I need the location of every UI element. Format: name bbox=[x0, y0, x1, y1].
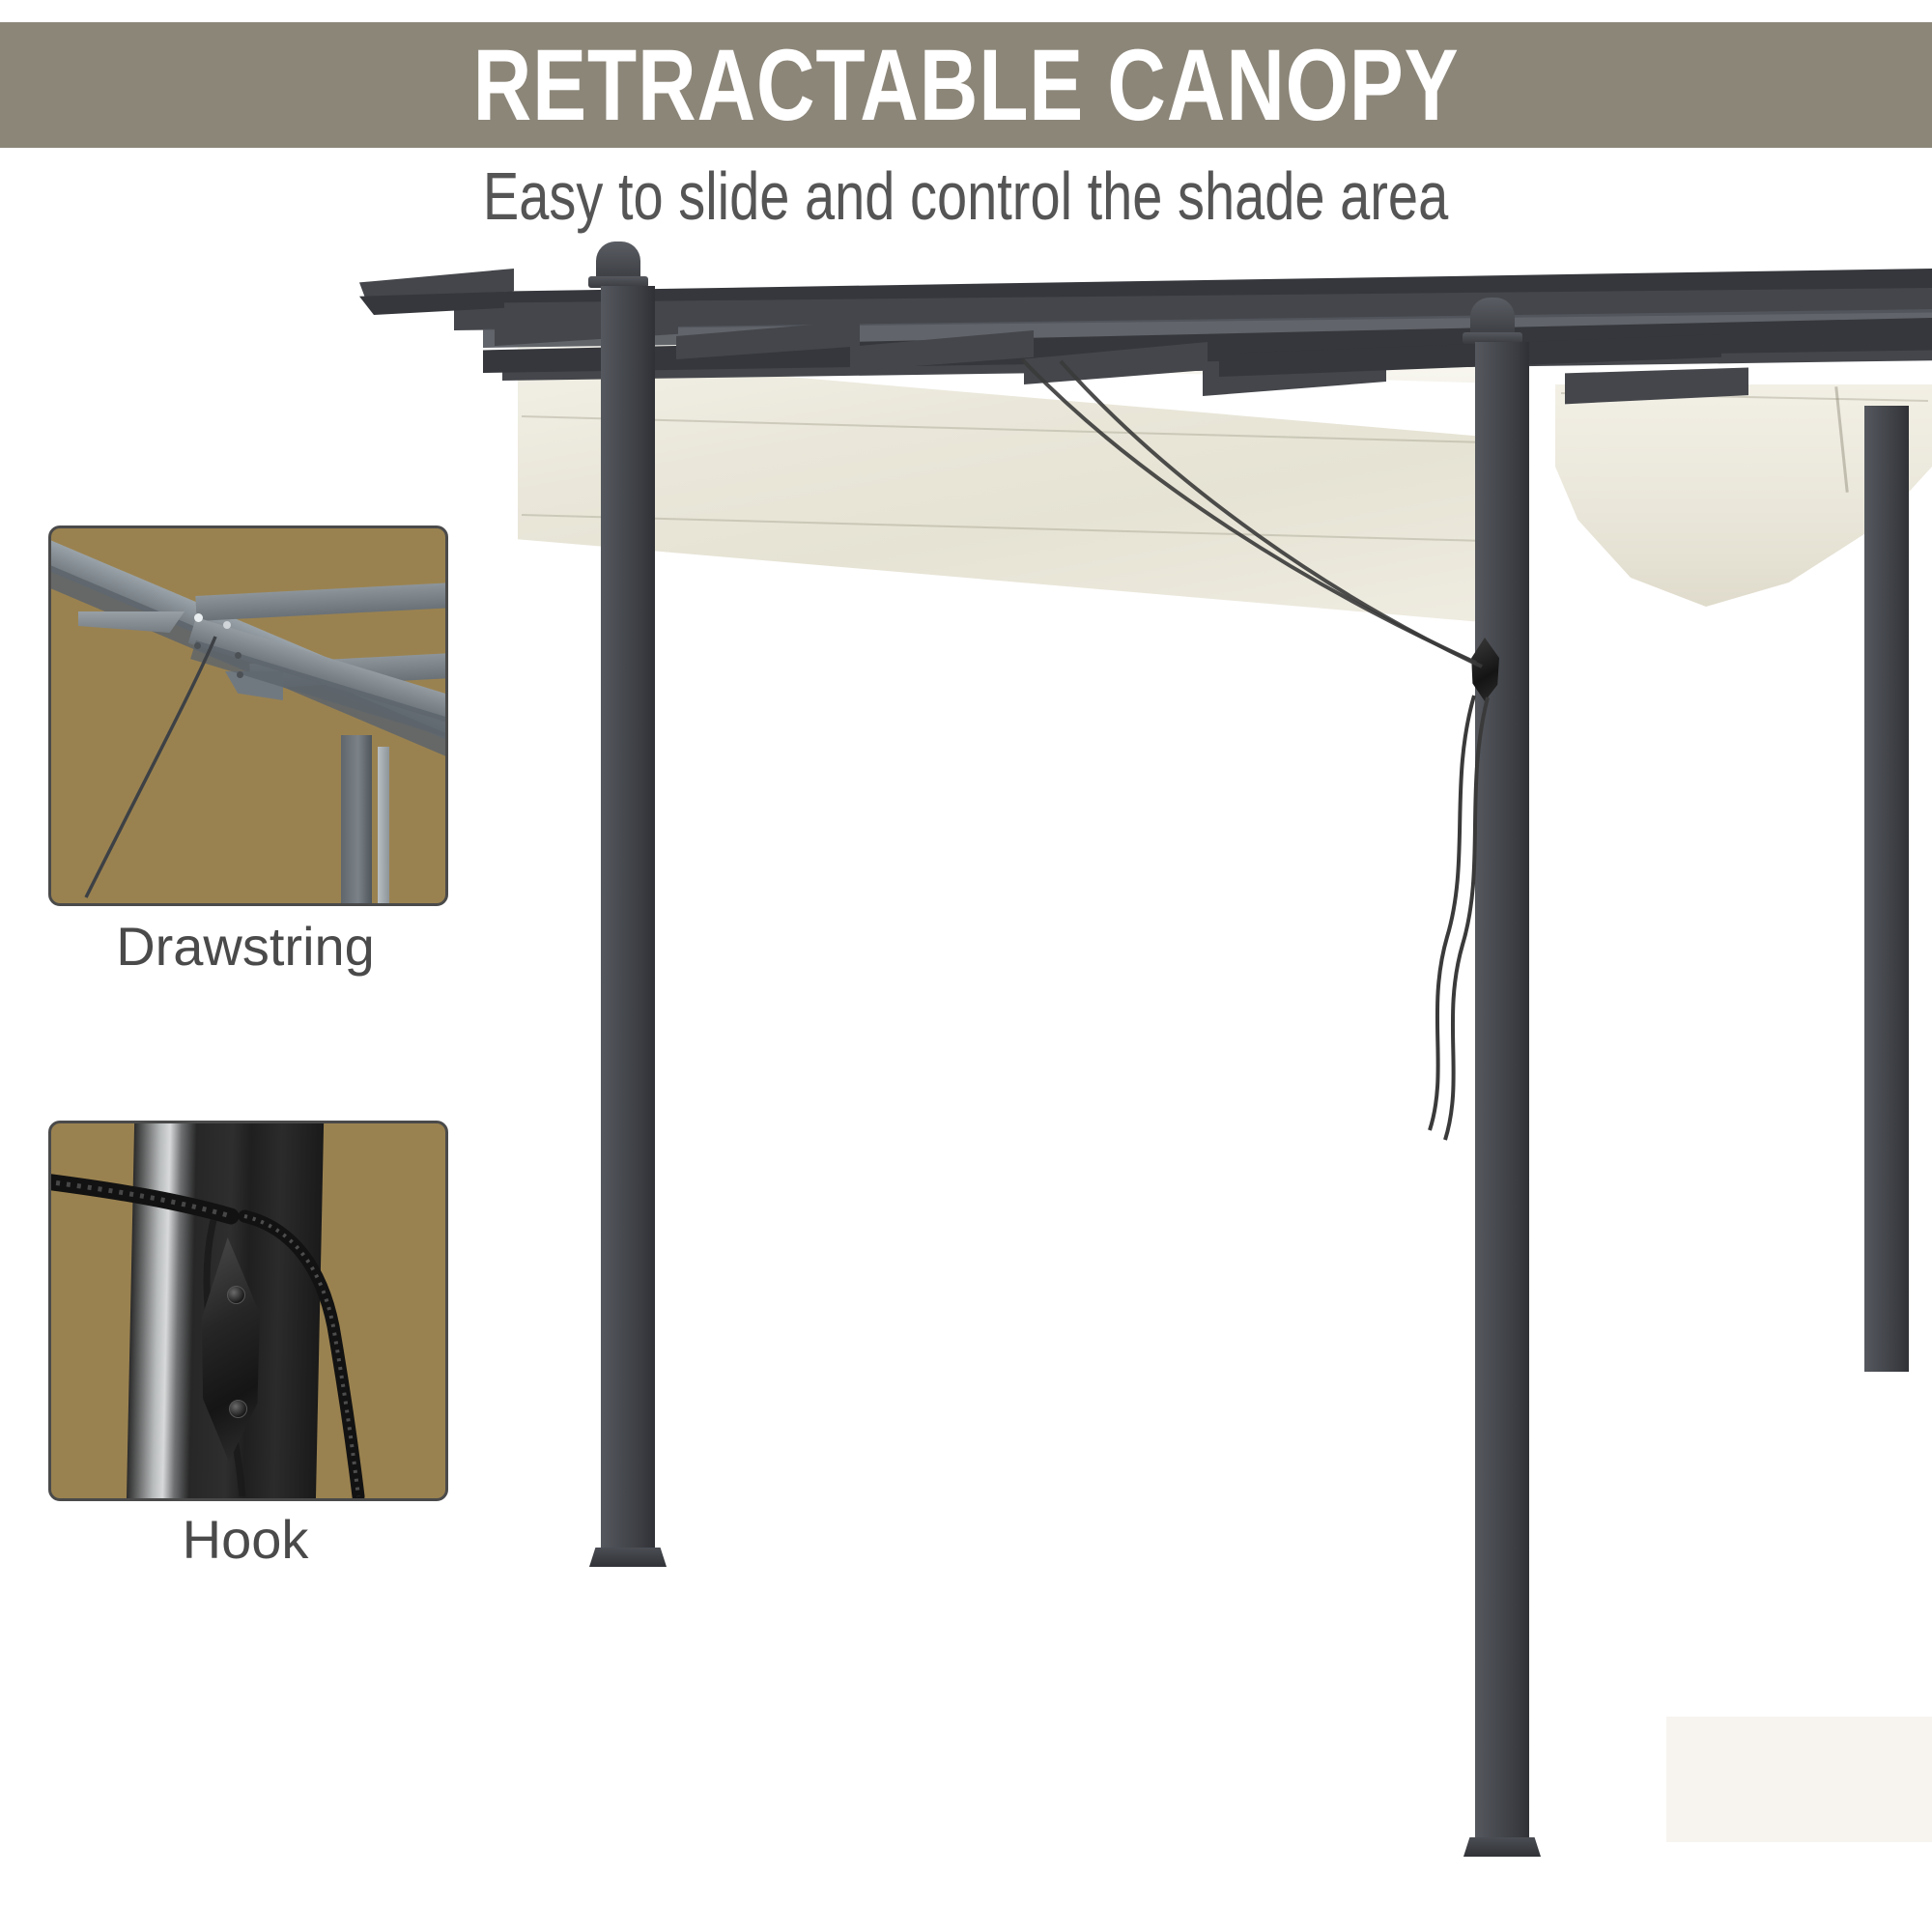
callout-label-hook: Hook bbox=[48, 1513, 442, 1567]
page-subtitle: Easy to slide and control the shade area bbox=[0, 162, 1932, 230]
page-subtitle-text: Easy to slide and control the shade area bbox=[483, 162, 1448, 230]
corner-color-swatch bbox=[1666, 1717, 1932, 1842]
post-left bbox=[601, 286, 655, 1551]
post-base-left bbox=[589, 1548, 667, 1567]
screw-icon bbox=[227, 1286, 245, 1304]
callout-drawstring bbox=[48, 526, 448, 906]
screw-icon bbox=[229, 1400, 247, 1418]
page-title: RETRACTABLE CANOPY bbox=[473, 35, 1460, 136]
drawstring-cable-icon bbox=[51, 528, 445, 903]
post-base-middle bbox=[1463, 1837, 1541, 1857]
callout-label-drawstring: Drawstring bbox=[48, 920, 442, 974]
header-banner: RETRACTABLE CANOPY bbox=[0, 22, 1932, 148]
post-middle bbox=[1475, 342, 1529, 1841]
post-right bbox=[1864, 406, 1909, 1372]
callout-hook bbox=[48, 1121, 448, 1501]
